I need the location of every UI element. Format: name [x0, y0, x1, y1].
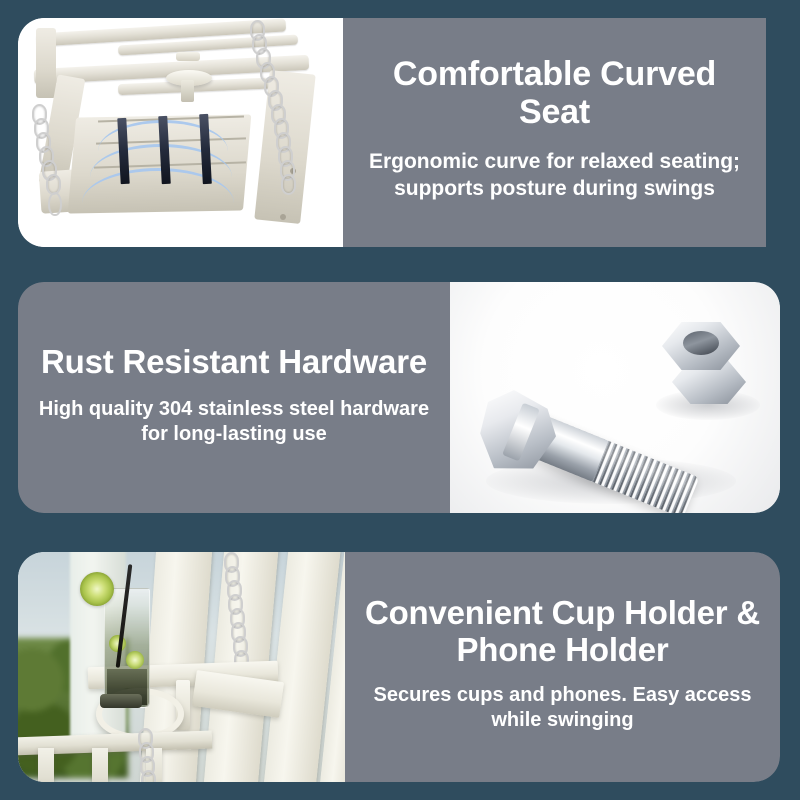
- cup-holder-illustration: [18, 552, 345, 782]
- feature-panel-rust-resistant-hardware: Rust Resistant Hardware High quality 304…: [18, 282, 780, 513]
- swing-seat-illustration: [18, 18, 343, 247]
- feature-image-cup-holder: [18, 552, 345, 782]
- feature-title: Comfortable Curved Seat: [365, 55, 744, 131]
- feature-image-curved-seat: [18, 18, 343, 247]
- bolt-and-nuts-illustration: [450, 282, 780, 513]
- bracket-screw: [280, 214, 286, 220]
- product-feature-infographic: Comfortable Curved Seat Ergonomic curve …: [0, 0, 800, 800]
- chain-link: [281, 174, 296, 195]
- hex-nut-hole: [683, 331, 719, 355]
- chain-link: [141, 770, 156, 782]
- feature-text-hardware: Rust Resistant Hardware High quality 304…: [18, 282, 450, 513]
- feature-image-hardware: [450, 282, 780, 513]
- seat-hardware-bracket: [176, 52, 200, 61]
- feature-text-cup-holder: Convenient Cup Holder & Phone Holder Sec…: [345, 552, 780, 782]
- feature-panel-cup-and-phone-holder: Convenient Cup Holder & Phone Holder Sec…: [18, 552, 780, 782]
- feature-title: Convenient Cup Holder & Phone Holder: [359, 595, 766, 669]
- porch-rail-baluster: [38, 748, 54, 782]
- lime-garnish: [80, 572, 114, 606]
- seat-hardware-bolt: [181, 80, 194, 102]
- feature-subtitle: High quality 304 stainless steel hardwar…: [36, 397, 432, 447]
- porch-rail-baluster: [92, 748, 108, 782]
- feature-subtitle: Ergonomic curve for relaxed seating; sup…: [365, 149, 744, 202]
- feature-text-curved-seat: Comfortable Curved Seat Ergonomic curve …: [343, 18, 766, 247]
- feature-title: Rust Resistant Hardware: [41, 344, 427, 381]
- feature-panel-curved-seat: Comfortable Curved Seat Ergonomic curve …: [18, 18, 766, 247]
- lime-in-glass: [126, 651, 144, 669]
- swing-left-post: [36, 28, 56, 98]
- feature-subtitle: Secures cups and phones. Easy access whi…: [359, 683, 766, 733]
- cup-holder-clamp: [100, 694, 142, 708]
- chain-hook: [48, 192, 62, 216]
